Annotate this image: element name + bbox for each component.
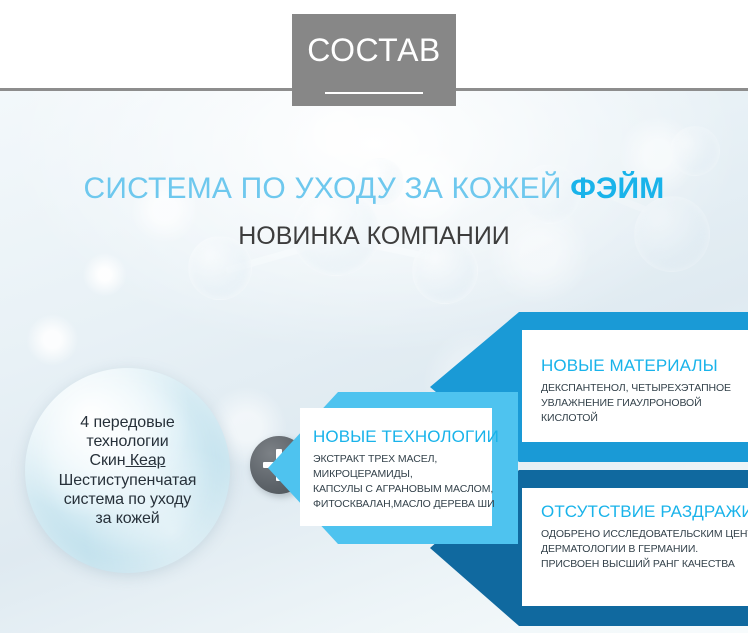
bubble-line-4: Шестиступенчатая [59, 472, 197, 489]
page-subtitle: НОВИНКА КОМПАНИИ [0, 224, 748, 249]
page-title-accent: ФЭЙМ [570, 172, 664, 205]
panel-new-technologies-title: НОВЫЕ ТЕХНОЛОГИИ [313, 428, 499, 445]
section-title-underline [325, 92, 423, 94]
key-fact-bubble: 4 передовые технологии Скин Кеар Шестист… [25, 368, 230, 573]
panel-body-line: ДЕРМАТОЛОГИИ В ГЕРМАНИИ. [541, 542, 748, 557]
page-title-main: СИСТЕМА ПО УХОДУ ЗА КОЖЕЙ [84, 172, 571, 205]
key-fact-text: 4 передовые технологии Скин Кеар Шестист… [38, 413, 218, 528]
section-title-text: СОСТАВ [307, 34, 441, 66]
section-title-badge: СОСТАВ [292, 14, 456, 106]
page-title: СИСТЕМА ПО УХОДУ ЗА КОЖЕЙ ФЭЙМ [0, 174, 748, 204]
panel-body-line: КИСЛОТОЙ [541, 411, 731, 426]
bubble-line-1: 4 передовые [80, 414, 174, 431]
bubble-line-3b: Кеар [125, 452, 165, 469]
panel-body-line: ДЕКСПАНТЕНОЛ, ЧЕТЫРЕХЭТАПНОЕ [541, 381, 731, 396]
panel-body-line: УВЛАЖНЕНИЕ ГИАУЛРОНОВОЙ [541, 396, 731, 411]
panel-body-line: ОДОБРЕНО ИССЛЕДОВАТЕЛЬСКИМ ЦЕНТРОМ [541, 527, 748, 542]
bubble-line-2: технологии [86, 433, 168, 450]
bubble-line-6: за кожей [95, 510, 159, 527]
panel-new-materials-title: НОВЫЕ МАТЕРИАЛЫ [541, 357, 718, 374]
panel-body-line: КАПСУЛЫ С АГРАНОВЫМ МАСЛОМ, [313, 482, 495, 497]
panel-body-line: ПРИСВОЕН ВЫСШИЙ РАНГ КАЧЕСТВА [541, 557, 748, 572]
panel-body-line: ЭКСТРАКТ ТРЕХ МАСЕЛ, [313, 452, 495, 467]
panel-body-line: МИКРОЦЕРАМИДЫ, [313, 467, 495, 482]
panel-new-technologies-body: ЭКСТРАКТ ТРЕХ МАСЕЛ, МИКРОЦЕРАМИДЫ, КАПС… [313, 452, 495, 512]
panel-body-line: ФИТОСКВАЛАН,МАСЛО ДЕРЕВА ШИ [313, 497, 495, 512]
bubble-line-5: система по уходу [64, 491, 191, 508]
infographic-page: СОСТАВ СИСТЕМА ПО УХОДУ ЗА КОЖЕЙ ФЭЙМ НО… [0, 0, 748, 633]
panel-no-irritants-title: ОТСУТСТВИЕ РАЗДРАЖИТЕЛЕ [541, 503, 748, 520]
panel-new-materials-body: ДЕКСПАНТЕНОЛ, ЧЕТЫРЕХЭТАПНОЕ УВЛАЖНЕНИЕ … [541, 381, 731, 426]
molecule-atom [670, 126, 720, 176]
bubble-line-3a: Скин [90, 452, 126, 469]
molecule-decoration [520, 120, 740, 290]
panel-no-irritants-body: ОДОБРЕНО ИССЛЕДОВАТЕЛЬСКИМ ЦЕНТРОМ ДЕРМА… [541, 527, 748, 572]
